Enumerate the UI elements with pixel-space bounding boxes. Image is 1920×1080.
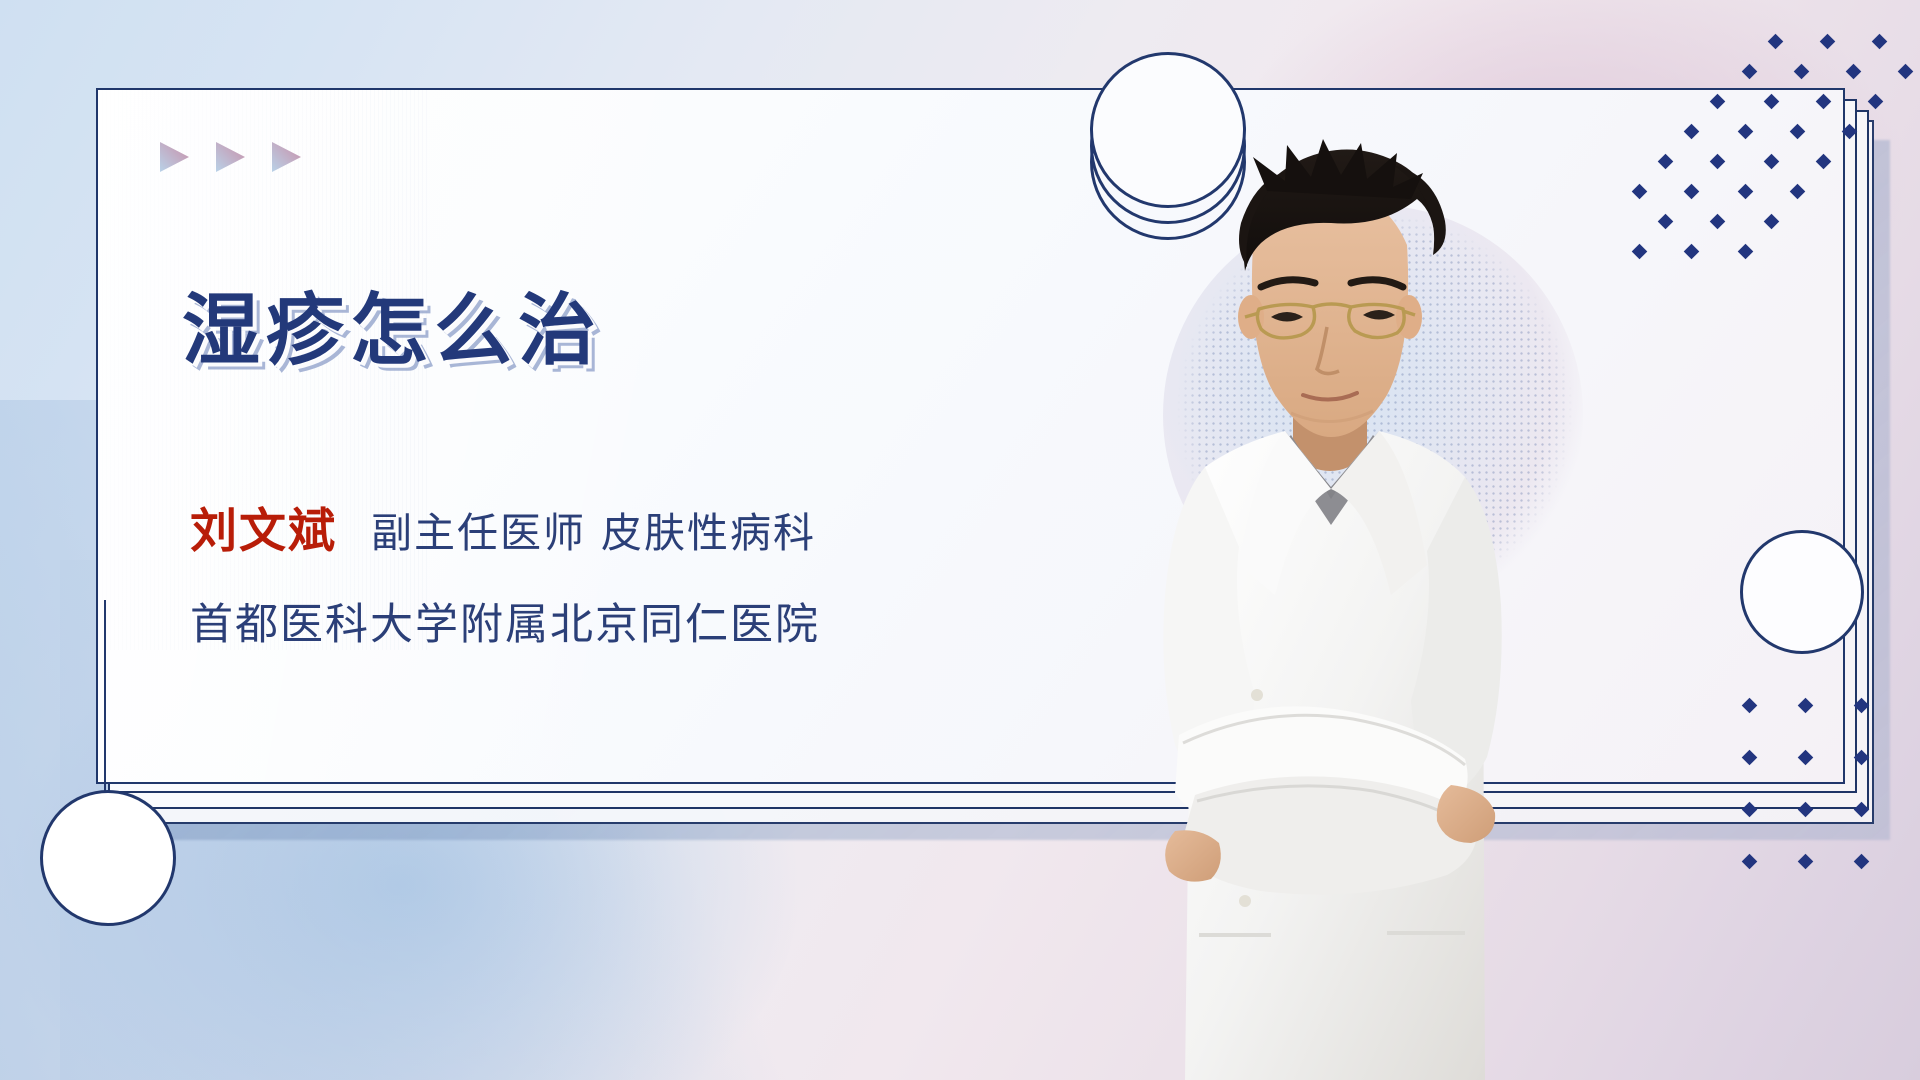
arrow-marker-group: [160, 141, 298, 171]
doctor-credentials: 副主任医师 皮肤性病科: [371, 499, 816, 559]
doctor-byline: 刘文斌 副主任医师 皮肤性病科: [190, 492, 816, 561]
play-triangle-icon: [272, 141, 298, 171]
circle-outline-decoration: [1740, 530, 1864, 654]
doctor-photo: [1135, 95, 1675, 1080]
doctor-name: 刘文斌: [190, 492, 337, 561]
play-triangle-icon: [160, 141, 186, 171]
circle-stem-line: [104, 600, 106, 792]
circle-outline-decoration: [40, 790, 176, 926]
play-triangle-icon: [216, 141, 242, 171]
hospital-name: 首都医科大学附属北京同仁医院: [190, 590, 820, 652]
slide-canvas: 湿疹怎么治 刘文斌 副主任医师 皮肤性病科 首都医科大学附属北京同仁医院: [0, 0, 1920, 1080]
page-title: 湿疹怎么治: [182, 268, 602, 380]
